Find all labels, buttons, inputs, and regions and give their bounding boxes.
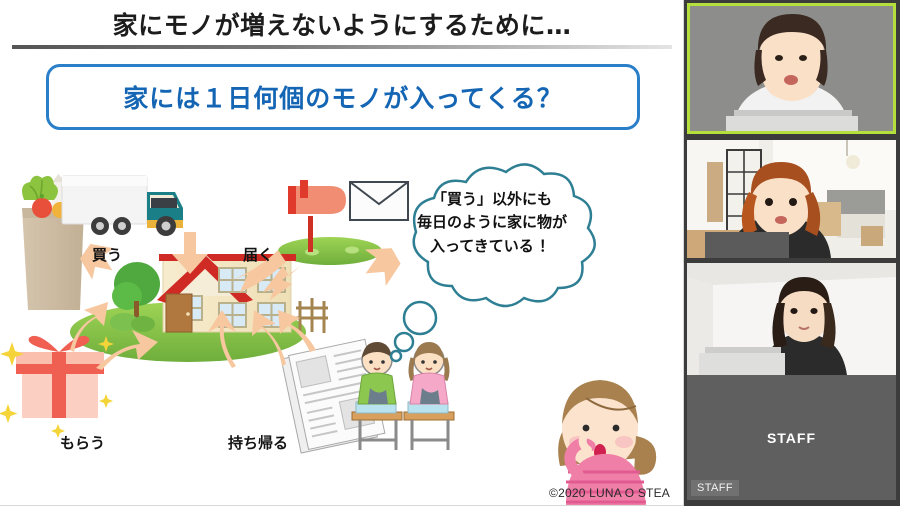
video-participants-rail: STAFF STAFF [684,0,900,506]
video-tile-participant-3[interactable] [687,263,896,375]
participant-3-video [687,263,896,375]
bubble-text: 「買う」以外にも 毎日のように家に物が 入ってきている ！ [396,188,588,258]
question-box-text: 家には１日何個のモノが入ってくる？ [123,79,563,115]
participant-1-video [690,6,893,131]
bubble-line-3: 入ってきている ！ [396,235,588,258]
bubble-line-2: 毎日のように家に物が [396,211,588,234]
question-box: 家には１日何個のモノが入ってくる？ [46,64,640,130]
participant-4-name: STAFF [687,430,896,446]
participant-2-video [687,140,896,258]
video-tile-participant-1[interactable] [687,3,896,134]
label-receive: もらう [60,432,105,453]
label-deliver: 届く [243,244,273,265]
video-tile-participant-4[interactable]: STAFF STAFF [687,375,896,500]
illustration-canvas: 買う 届く もらう 持ち帰る 「買う」以外にも 毎日のように家に物が 入ってきて… [0,136,684,506]
meeting-window: 家にモノが増えないようにするために… 家には１日何個のモノが入ってくる？ [0,0,900,506]
bubble-line-1: 「買う」以外にも [396,188,588,211]
copyright-text: ©2020 LUNA O STEA [549,486,670,500]
video-tile-participant-2[interactable] [687,140,896,258]
house-icon [70,254,328,362]
label-bring-home: 持ち帰る [228,432,288,453]
gift-box-icon [0,336,114,438]
slide-title-text: 家にモノが増えないようにするために… [113,6,572,42]
label-buy: 買う [92,244,122,265]
participant-4-badge: STAFF [691,480,739,496]
title-divider [12,45,672,49]
shared-slide: 家にモノが増えないようにするために… 家には１日何個のモノが入ってくる？ [0,0,684,506]
slide-title: 家にモノが増えないようにするために… [0,4,684,44]
